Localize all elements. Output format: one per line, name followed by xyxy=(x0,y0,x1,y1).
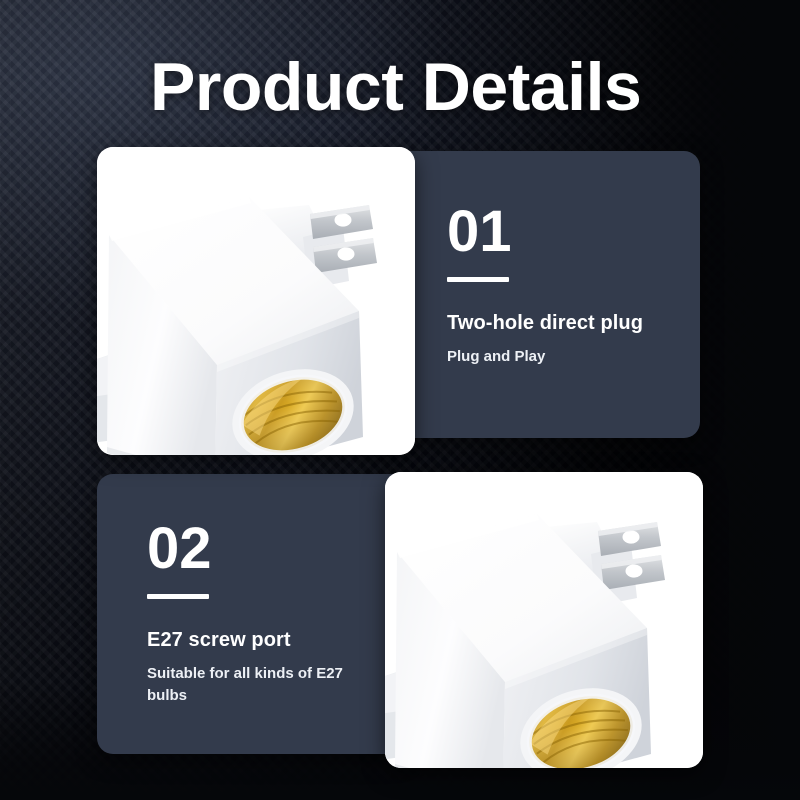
page-title: Product Details xyxy=(150,50,641,124)
product-details-infographic: Product Details xyxy=(0,0,800,800)
divider-rule xyxy=(147,594,209,599)
card-number: 01 xyxy=(447,205,700,259)
product-photo-02 xyxy=(385,472,703,768)
card-heading: E27 screw port xyxy=(147,627,401,653)
divider-rule xyxy=(447,277,509,282)
detail-card-01: 01 Two-hole direct plug Plug and Play xyxy=(97,147,700,455)
card-subtext: Plug and Play xyxy=(447,346,657,368)
detail-text-panel-02: 02 E27 screw port Suitable for all kinds… xyxy=(97,474,401,754)
card-heading: Two-hole direct plug xyxy=(447,310,700,336)
detail-card-02: 02 E27 screw port Suitable for all kinds… xyxy=(97,472,703,768)
plug-adapter-illustration xyxy=(97,147,415,455)
card-subtext: Suitable for all kinds of E27 bulbs xyxy=(147,663,357,707)
detail-text-panel-01: 01 Two-hole direct plug Plug and Play xyxy=(399,151,700,438)
card-number: 02 xyxy=(147,522,401,576)
plug-adapter-illustration xyxy=(385,472,703,768)
product-photo-01 xyxy=(97,147,415,455)
